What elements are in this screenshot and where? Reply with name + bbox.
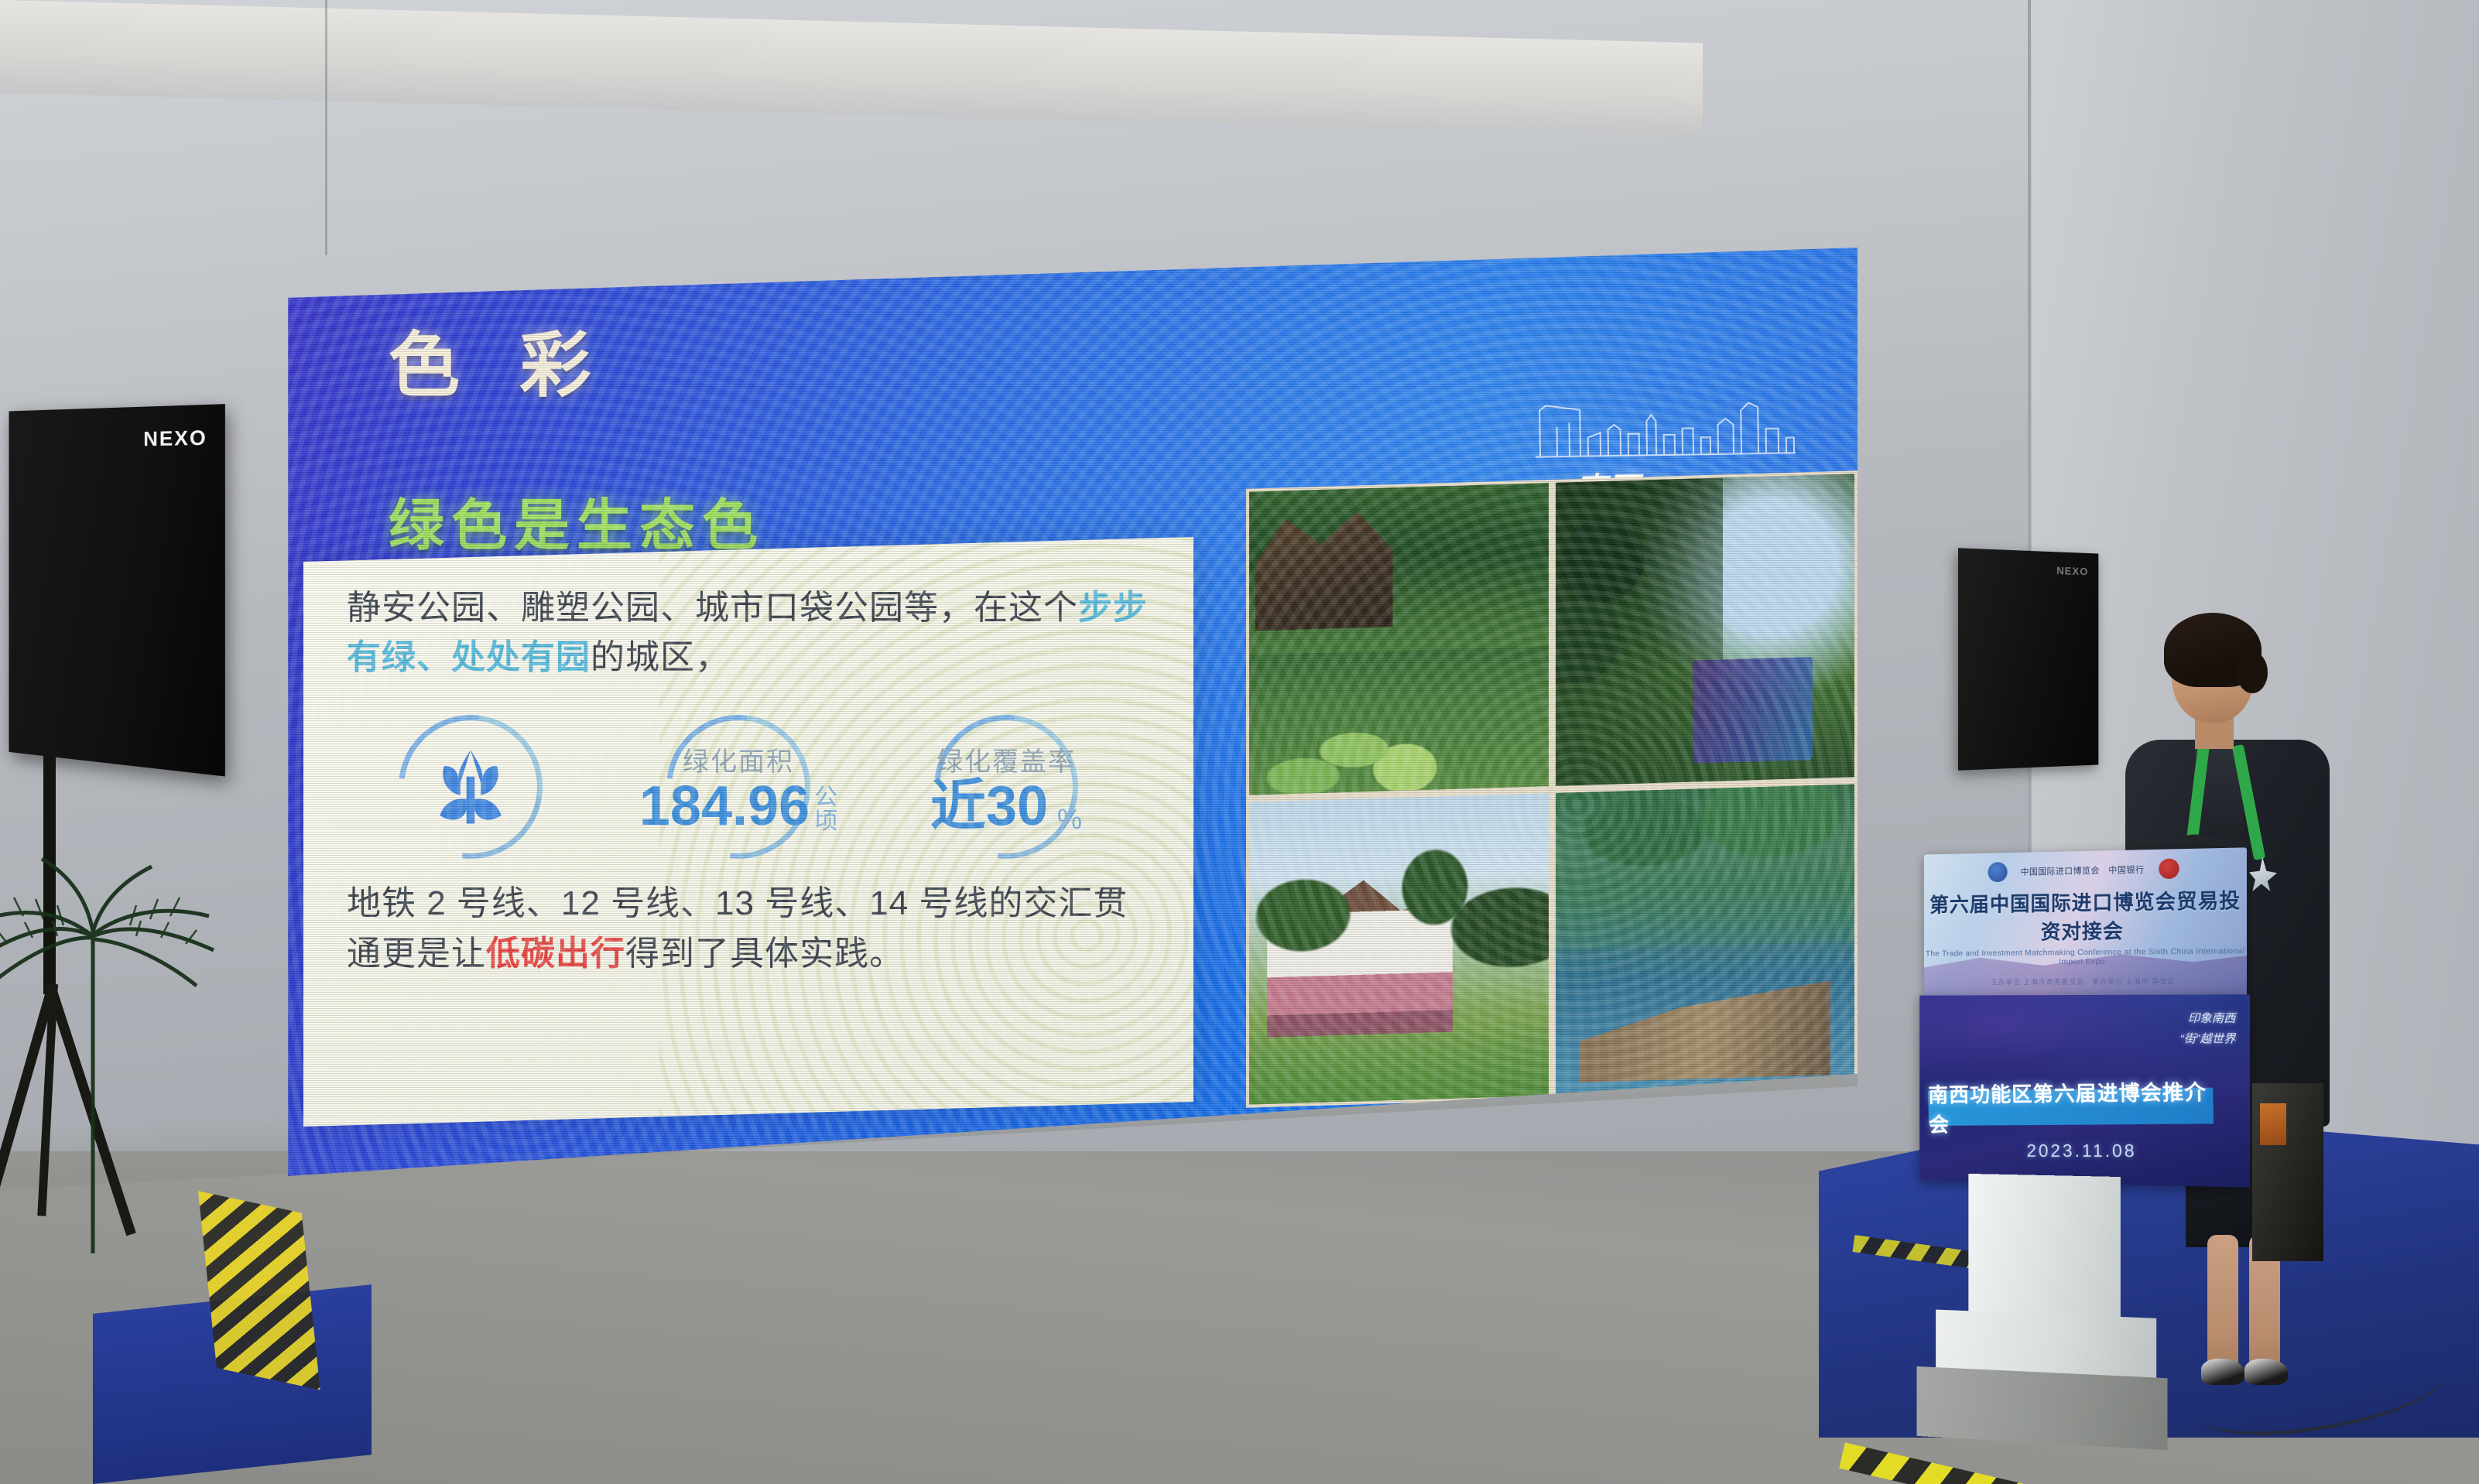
- wall-panel-seam: [325, 0, 327, 255]
- podium-event-title: 南西功能区第六届进博会推介会: [1928, 1075, 2214, 1137]
- podium-script-line2: “街”越世界: [2180, 1029, 2236, 1049]
- podium-floor-riser: [1916, 1366, 2167, 1450]
- slide-title: 色 彩: [389, 308, 611, 411]
- photo-tudor-villa-lawn: [1249, 793, 1549, 1105]
- stat-green-coverage-value-group: 近30 %: [930, 780, 1082, 833]
- podium-script-text: 印象南西 “街”越世界: [2180, 1009, 2236, 1049]
- stat-green-area: 绿化面积 184.96 公 顷: [615, 710, 862, 864]
- pa-speaker-right-brand: NEXO: [2056, 564, 2088, 577]
- podium-front-panel: 印象南西 “街”越世界 南西功能区第六届进博会推介会 2023.11.08: [1919, 994, 2250, 1187]
- podium-title-cn: 第六届中国国际进口博览会贸易投资对接会: [1924, 884, 2247, 946]
- palm-plant: [0, 820, 232, 1253]
- paragraph-bottom: 地铁 2 号线、12 号线、13 号线、14 号线的交汇贯通更是让低碳出行得到了…: [347, 879, 1150, 978]
- stats-row: 绿化面积 184.96 公 顷 绿化覆盖率 近: [347, 706, 1150, 868]
- stat-green-coverage-label: 绿化覆盖率: [936, 740, 1076, 778]
- paragraph-top-part1: 静安公园、雕塑公园、城市口袋公园等，在这个: [347, 589, 1078, 627]
- stat-green-area-value-group: 184.96 公 顷: [639, 780, 837, 833]
- stat-unit-char2: 顷: [814, 809, 837, 834]
- stat-arc-ring: [369, 686, 571, 888]
- stat-green-area-unit: 公 顷: [814, 785, 837, 834]
- equipment-case: [2252, 1083, 2323, 1261]
- podium-title-en: The Trade and Investment Matchmaking Con…: [1924, 946, 2247, 967]
- stat-green-coverage: 绿化覆盖率 近30 %: [882, 710, 1130, 864]
- presenter-shoe-right: [2244, 1359, 2288, 1385]
- city-skyline-icon: [1533, 392, 1797, 461]
- photo-wooden-pavilion-lily-pond: [1249, 483, 1549, 795]
- led-video-wall: 色 彩 绿色是生态色: [279, 248, 1858, 1176]
- equipment-case-label: [2260, 1103, 2286, 1145]
- podium-event-band: 南西功能区第六届进博会推介会: [1928, 1088, 2214, 1126]
- presentation-room-scene: 色 彩 绿色是生态色: [0, 0, 2479, 1484]
- podium-organizer-meta: 主办单位 上海市商务委员会 承办单位 上海市 静安区: [1924, 976, 2247, 988]
- paragraph-top-part2: 的城区，: [591, 638, 730, 676]
- photo-tree-canopy-sky: [1556, 474, 1855, 785]
- slide-content-panel: 静安公园、雕塑公园、城市口袋公园等，在这个步步有绿、处处有园的城区，: [303, 537, 1193, 1127]
- photo-park-deck-umbrella: [1556, 784, 1855, 1096]
- ciie-logo-icon: [1988, 862, 2007, 882]
- pa-speaker-left-brand: NEXO: [143, 426, 207, 451]
- presenter-shoe-left: [2201, 1359, 2244, 1385]
- paragraph-top: 静安公园、雕塑公园、城市口袋公园等，在这个步步有绿、处处有园的城区，: [347, 583, 1150, 682]
- lectern-podium: 中国国际进口博览会 中国银行 第六届中国国际进口博览会贸易投资对接会 The T…: [1924, 847, 2247, 1187]
- presenter-leg-left: [2207, 1235, 2238, 1373]
- podium-sponsor-logos: 中国国际进口博览会 中国银行: [1924, 847, 2247, 883]
- stat-green-area-value: 184.96: [639, 780, 810, 833]
- pa-speaker-right: NEXO: [1958, 548, 2098, 771]
- stat-flower: [347, 710, 594, 864]
- podium-script-line1: 印象南西: [2180, 1009, 2236, 1029]
- paragraph-bottom-highlight: 低碳出行: [486, 935, 625, 973]
- presenter-hair-bun: [2237, 651, 2268, 693]
- stat-green-area-label: 绿化面积: [683, 740, 794, 778]
- stat-green-coverage-value: 近30: [930, 780, 1048, 833]
- podium-top-signboard: 中国国际进口博览会 中国银行 第六届中国国际进口博览会贸易投资对接会 The T…: [1924, 847, 2247, 998]
- slide-subtitle: 绿色是生态色: [389, 480, 765, 561]
- stat-unit-char1: 公: [814, 785, 837, 810]
- pa-speaker-left: NEXO: [9, 404, 225, 776]
- paragraph-bottom-part2: 得到了具体实践。: [625, 935, 904, 973]
- bank-of-china-logo-icon: [2159, 858, 2179, 879]
- podium-event-date: 2023.11.08: [1919, 1140, 2250, 1162]
- slide-photo-grid: [1246, 470, 1858, 1107]
- ciie-logo-text: 中国国际进口博览会 中国银行: [2021, 863, 2145, 877]
- stat-green-coverage-unit: %: [1057, 805, 1082, 834]
